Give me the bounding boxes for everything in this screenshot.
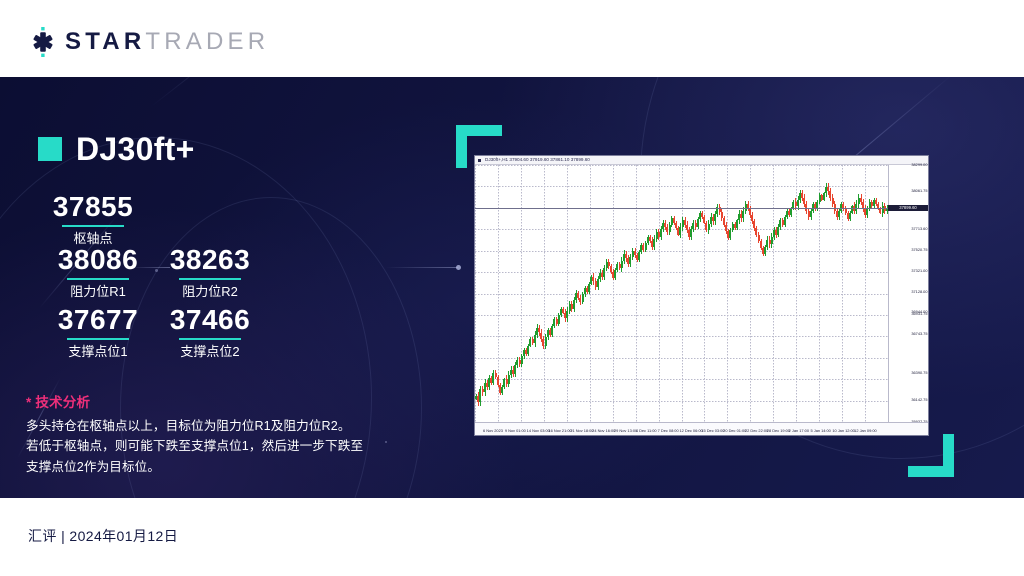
current-price-line [475,208,888,209]
chart-header-title: DJ30ft+,H1 37904.60 37919.60 37861.10 37… [485,157,590,162]
level-s2-value: 37466 [145,305,275,334]
footer-text: 汇评 | 2024年01月12日 [28,526,178,546]
time-axis-tick: 24 Nov 16:00 [592,429,615,433]
decor-line [386,267,458,268]
candle-body [708,224,710,231]
candle-body [855,204,857,211]
analysis-heading: * 技术分析 [26,391,396,411]
brand-name-bold: STAR [65,28,145,55]
candle-body [797,200,799,207]
candle-body [582,294,584,302]
time-axis-tick: 12 Jan 09:00 [854,429,877,433]
time-axis-tick: 29 Nov 13:00 [614,429,637,433]
candle-body [823,193,825,200]
analysis-line-1: 多头持仓在枢轴点以上，目标位为阻力位R1及阻力位R2。 [26,416,396,436]
price-axis-tick: 38299.00 [910,163,927,167]
candle-body [723,218,725,225]
candle-body [669,225,671,233]
time-axis-tick: 28 Dec 19:00 [767,429,790,433]
level-underline [62,225,124,227]
brand-logo: STARTRADER [28,28,269,56]
chart-gridline-h [475,272,888,273]
candle-body [753,221,755,228]
chart-gridline-h [475,251,888,252]
analysis-line-3: 支撑点位2作为目标位。 [26,457,396,477]
level-s1-value: 37677 [33,305,163,334]
current-price-tag: 37899.60 [888,205,928,211]
time-axis-tick: 6 Nov 2023 [483,429,503,433]
price-axis-tick: 37713.60 [910,227,927,231]
candle-body [690,229,692,237]
candle-body [497,377,499,385]
candle-body [784,217,786,225]
instrument-title-row: DJ30ft+ [38,133,195,165]
asterisk-star-icon [28,27,58,57]
time-axis-tick: 7 Dec 08:00 [658,429,679,433]
candle-body [714,214,716,222]
chart-gridline-h [475,294,888,295]
level-r2-label: 阻力位R2 [145,285,275,299]
time-axis-tick: 20 Dec 01:00 [723,429,746,433]
level-r2: 38263 阻力位R2 [145,245,275,300]
candle-body [545,337,547,346]
time-axis-tick: 15 Dec 03:00 [701,429,724,433]
candle-body [629,257,631,264]
brand-name-light: TRADER [145,28,269,55]
chart-header: DJ30ft+,H1 37904.60 37919.60 37861.10 37… [475,156,928,165]
price-axis-tick: 36944.00 [910,310,927,314]
price-axis-tick: 38061.75 [910,189,927,193]
level-s2: 37466 支撑点位2 [145,305,275,360]
time-axis-tick: 2 Jan 17:00 [789,429,809,433]
candle-body [838,211,840,218]
candle-body [721,212,723,219]
analysis-line-2: 若低于枢轴点，则可能下跌至支撑点位1，然后进一步下跌至 [26,436,396,456]
level-s2-label: 支撑点位2 [145,345,275,359]
candle-body [751,215,753,222]
candle-body [653,239,655,247]
level-s1-label: 支撑点位1 [33,345,163,359]
slide-root: STARTRADER DJ30ft+ 37855 枢轴点 [0,0,1024,576]
level-underline [67,278,129,280]
candle-body [805,204,807,211]
time-axis-tick: 16 Nov 21:00 [549,429,572,433]
candle-body [660,229,662,237]
candle-body [697,219,699,227]
candle-body [829,191,831,198]
chart-gridline-h [475,401,888,402]
price-axis-tick: 36743.75 [910,332,927,336]
chart-gridline-h [475,358,888,359]
candle-body [760,241,762,248]
candle-body [679,227,681,235]
level-underline [179,278,241,280]
candle-body [521,356,523,364]
candle-body [501,387,503,394]
chart-gridline-h [475,379,888,380]
candle-body [527,346,529,355]
level-pivot-value: 37855 [33,192,153,221]
candle-body [566,311,568,319]
time-axis-tick: 10 Jan 12:00 [832,429,855,433]
candle-body [645,243,647,250]
chart-header-marker [478,159,481,162]
level-pivot: 37855 枢轴点 [33,192,153,247]
time-axis-tick: 9 Nov 01:00 [505,429,526,433]
price-chart[interactable]: DJ30ft+,H1 37904.60 37919.60 37861.10 37… [474,155,929,436]
candle-body [588,284,590,293]
candle-body [810,211,812,218]
candle-body [540,333,542,340]
slide-body: DJ30ft+ 37855 枢轴点 38086 阻力位R1 38263 阻力位R… [0,77,1024,498]
chart-plot-area[interactable] [475,165,888,422]
chart-price-axis[interactable]: 38299.0038061.7537899.6037713.6037520.75… [888,165,928,422]
candle-body [832,198,834,205]
chart-gridline-h [475,315,888,316]
time-axis-tick: 5 Jan 14:00 [811,429,831,433]
level-r1-value: 38086 [33,245,163,274]
chart-time-axis[interactable]: 6 Nov 20239 Nov 01:0014 Nov 03:0016 Nov … [475,422,928,435]
candle-body [514,365,516,374]
time-axis-tick: 22 Dec 22:00 [745,429,768,433]
candle-body [551,326,553,335]
price-axis-tick: 37128.00 [910,290,927,294]
corner-bracket-bottom-right [908,466,954,477]
candle-body [764,247,766,255]
title-marker [38,137,62,161]
time-axis-tick: 4 Dec 11:00 [636,429,657,433]
candle-body [736,220,738,228]
price-axis-tick: 36390.75 [910,371,927,375]
time-axis-tick: 21 Nov 18:00 [570,429,593,433]
level-r2-value: 38263 [145,245,275,274]
candle-body [816,202,818,209]
level-r1: 38086 阻力位R1 [33,245,163,300]
candle-body [621,261,623,269]
analysis-block: * 技术分析 多头持仓在枢轴点以上，目标位为阻力位R1及阻力位R2。 若低于枢轴… [26,391,396,477]
candle-body [729,230,731,238]
candle-body [862,202,864,209]
candle-body [534,335,536,344]
candle-body [508,375,510,384]
candle-body [603,268,605,277]
price-axis-tick: 37520.75 [910,248,927,252]
candle-body [849,213,851,220]
candle-body [725,225,727,232]
page-title: DJ30ft+ [76,133,195,165]
candle-body [614,270,616,278]
price-axis-tick: 36142.75 [910,398,927,402]
candle-body [597,279,599,287]
candle-body [573,300,575,309]
level-underline [67,338,129,340]
price-axis-tick: 37321.00 [910,269,927,273]
page-footer: 汇评 | 2024年01月12日 [0,498,1024,576]
level-s1: 37677 支撑点位1 [33,305,163,360]
candle-body [771,237,773,245]
page-header: STARTRADER [0,0,1024,77]
candle-body [755,228,757,235]
corner-bracket-top-left [456,125,467,168]
chart-gridline-h [475,165,888,166]
candle-body [758,235,760,242]
level-underline [179,338,241,340]
candle-body [834,204,836,211]
time-axis-tick: 14 Nov 03:00 [527,429,550,433]
candle-body [803,198,805,205]
candle-body [558,315,560,324]
time-axis-tick: 12 Dec 06:00 [680,429,703,433]
candle-body [638,252,640,260]
level-r1-label: 阻力位R1 [33,285,163,299]
candle-body [777,227,779,235]
candle-body [742,211,744,219]
